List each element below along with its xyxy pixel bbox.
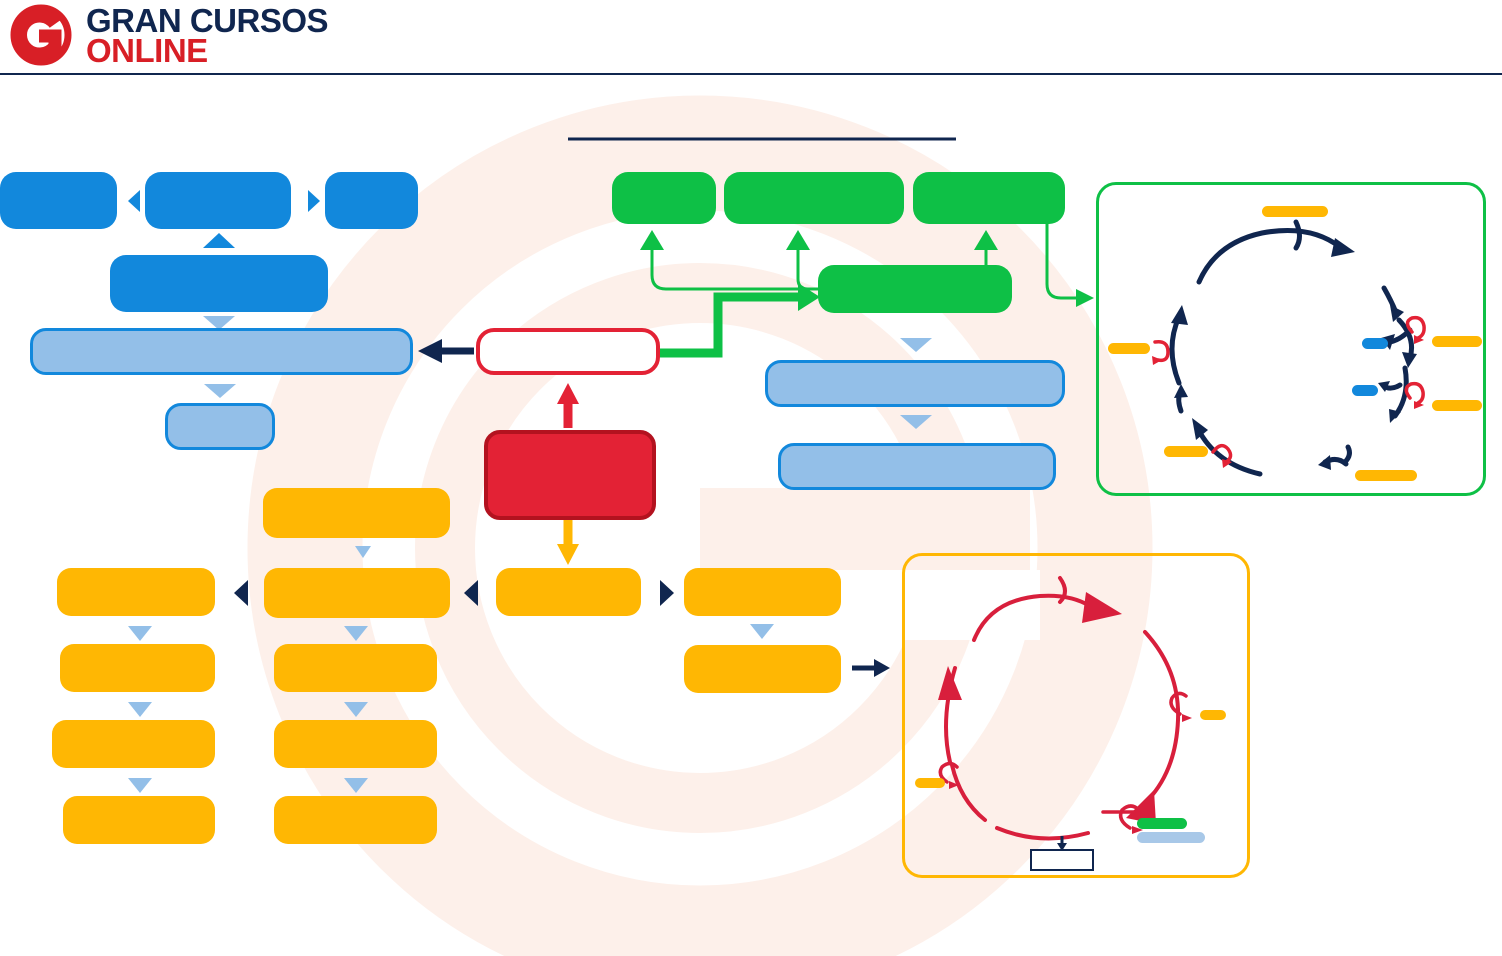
green-panel-pill-right-2[interactable] bbox=[1432, 400, 1482, 411]
green-panel-pill-blue-2[interactable] bbox=[1352, 385, 1378, 396]
orange-panel-pill-left[interactable] bbox=[915, 778, 945, 788]
conn-orange-down-4 bbox=[344, 626, 368, 641]
orange-c1-2[interactable] bbox=[60, 644, 215, 692]
red-fill-node[interactable] bbox=[484, 430, 656, 520]
blue-node-5[interactable] bbox=[30, 328, 413, 375]
conn-green-to-panel bbox=[1047, 224, 1078, 298]
orange-panel-pill-lblue[interactable] bbox=[1137, 832, 1205, 843]
green-node-3[interactable] bbox=[913, 172, 1065, 224]
center-blue-node-2[interactable] bbox=[778, 443, 1056, 490]
green-panel-pill-bottom[interactable] bbox=[1355, 470, 1417, 481]
conn-orange-tri-3 bbox=[660, 580, 674, 606]
center-blue-node-1[interactable] bbox=[765, 360, 1065, 407]
gran-cursos-online-logo: GRAN CURSOS ONLINE bbox=[8, 4, 408, 70]
orange-c2-4[interactable] bbox=[274, 796, 437, 844]
conn-cblue-down-2 bbox=[900, 415, 932, 429]
orange-panel-pill-green[interactable] bbox=[1137, 818, 1187, 829]
conn-orange-down-5 bbox=[344, 702, 368, 717]
circled-g-icon bbox=[8, 4, 80, 66]
conn-blue-right bbox=[308, 190, 320, 212]
conn-orange-down-2 bbox=[128, 702, 152, 717]
orange-c2-3[interactable] bbox=[274, 720, 437, 768]
green-node-1[interactable] bbox=[612, 172, 716, 224]
logo-word-online: ONLINE bbox=[86, 36, 328, 66]
orange-c4-1[interactable] bbox=[684, 568, 841, 616]
orange-c4-2[interactable] bbox=[684, 645, 841, 693]
orange-panel-result-box[interactable] bbox=[1030, 849, 1094, 871]
green-panel-pill-right-1[interactable] bbox=[1432, 336, 1482, 347]
page-header: GRAN CURSOS ONLINE bbox=[0, 0, 1502, 78]
conn-orange-down-1 bbox=[128, 626, 152, 641]
conn-green-up-1 bbox=[652, 248, 818, 289]
orange-c2-2[interactable] bbox=[274, 644, 437, 692]
green-cycle-panel[interactable] bbox=[1096, 182, 1486, 496]
conn-orange-tri-1 bbox=[234, 580, 248, 606]
conn-blue-left bbox=[128, 190, 140, 212]
green-panel-pill-bl[interactable] bbox=[1164, 446, 1208, 457]
conn-blue-up bbox=[203, 233, 235, 248]
orange-panel-pill-right[interactable] bbox=[1200, 710, 1226, 720]
green-panel-pill-top[interactable] bbox=[1262, 206, 1328, 217]
green-panel-pill-left[interactable] bbox=[1108, 343, 1150, 354]
conn-orange-down-6 bbox=[344, 778, 368, 793]
blue-node-3[interactable] bbox=[325, 172, 418, 229]
conn-orange-down-3 bbox=[128, 778, 152, 793]
green-node-4[interactable] bbox=[818, 265, 1012, 313]
header-divider bbox=[0, 73, 1502, 75]
blue-node-1[interactable] bbox=[0, 172, 117, 229]
orange-c1-3[interactable] bbox=[52, 720, 215, 768]
orange-c1-1[interactable] bbox=[57, 568, 215, 616]
conn-green-from-red bbox=[660, 297, 806, 353]
conn-cblue-down-1 bbox=[900, 338, 932, 352]
red-outline-node[interactable] bbox=[476, 328, 660, 375]
logo-word-cursos: CURSOS bbox=[190, 2, 328, 39]
orange-c2-0[interactable] bbox=[263, 488, 450, 538]
blue-node-2[interactable] bbox=[145, 172, 291, 229]
conn-orange-tri-2 bbox=[464, 580, 478, 606]
blue-node-6[interactable] bbox=[165, 403, 275, 450]
green-panel-pill-blue-1[interactable] bbox=[1362, 338, 1388, 349]
orange-c1-4[interactable] bbox=[63, 796, 215, 844]
conn-orange-down-7 bbox=[750, 624, 774, 639]
conn-orange-down-a bbox=[355, 546, 371, 558]
orange-c2-1[interactable] bbox=[264, 568, 450, 618]
orange-cycle-panel[interactable] bbox=[902, 553, 1250, 878]
blue-node-4[interactable] bbox=[110, 255, 328, 312]
conn-blue-down-2 bbox=[204, 384, 236, 398]
conn-green-up-2 bbox=[798, 248, 818, 289]
orange-c3-1[interactable] bbox=[496, 568, 641, 616]
page-canvas: GRAN CURSOS ONLINE bbox=[0, 0, 1502, 956]
green-node-2[interactable] bbox=[724, 172, 904, 224]
